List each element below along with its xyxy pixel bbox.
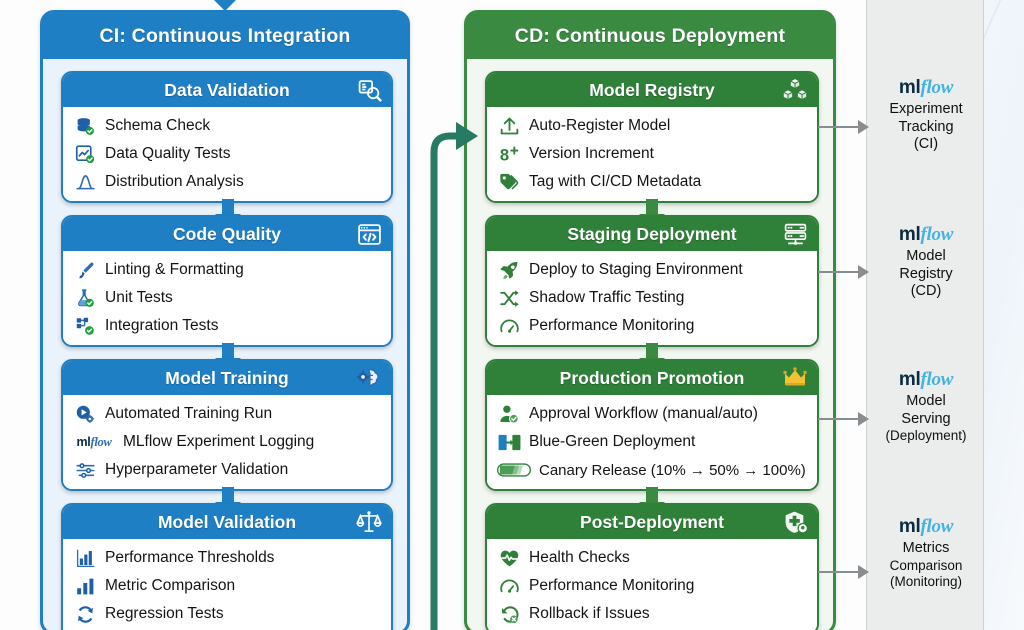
list-item-label: Regression Tests xyxy=(105,605,224,623)
list-item[interactable]: Linting & Formatting xyxy=(73,256,385,284)
card-title: Staging Deployment xyxy=(567,224,736,245)
card-data-validation[interactable]: Data Validation Schema Check xyxy=(61,71,393,203)
list-item-label: Hyperparameter Validation xyxy=(105,461,288,479)
pipeline-entry-arrow xyxy=(212,0,238,12)
list-item[interactable]: Approval Workflow (manual/auto) xyxy=(497,400,811,428)
card-title: Data Validation xyxy=(164,80,289,101)
mlflow-logo: mlflow xyxy=(867,370,985,391)
cd-to-mlflow-arrow xyxy=(818,565,870,579)
heart-pulse-icon xyxy=(497,547,521,569)
list-item-label: Performance Monitoring xyxy=(529,577,694,595)
tags-icon xyxy=(497,171,521,193)
distribution-curve-icon xyxy=(73,171,97,193)
card-header: Data Validation xyxy=(63,73,391,107)
mlflow-item-experiment-tracking[interactable]: mlflow Experiment Tracking (CI) xyxy=(867,78,985,154)
data-scan-icon xyxy=(356,77,382,103)
mlflow-logo: mlflow xyxy=(867,225,985,246)
card-header: Staging Deployment xyxy=(487,217,817,251)
version-plus-icon: 8 xyxy=(497,143,521,165)
card-post-deployment[interactable]: Post-Deployment Healt xyxy=(485,503,819,630)
ci-panel: CI: Continuous Integration Data Validati… xyxy=(40,10,410,630)
bar-chart-axis-icon xyxy=(73,547,97,569)
list-item[interactable]: Automated Training Run xyxy=(73,400,385,428)
list-item[interactable]: Data Quality Tests xyxy=(73,140,385,168)
card-body: Approval Workflow (manual/auto) Blue-Gre… xyxy=(487,395,817,489)
list-item[interactable]: Performance Thresholds xyxy=(73,544,385,572)
list-item[interactable]: Performance Monitoring xyxy=(497,572,811,600)
cd-to-mlflow-arrow xyxy=(818,120,870,134)
shield-health-icon xyxy=(782,509,808,535)
progress-bar-icon xyxy=(497,459,531,481)
svg-text:8: 8 xyxy=(499,145,508,164)
list-item-label: Approval Workflow (manual/auto) xyxy=(529,405,758,423)
list-item[interactable]: Rollback if Issues xyxy=(497,600,811,628)
mlflow-label-line3: (Deployment) xyxy=(867,428,985,444)
cd-to-mlflow-arrow xyxy=(818,265,870,279)
pipeline-diagram: CI: Continuous Integration Data Validati… xyxy=(0,0,1024,630)
list-item-label: Automated Training Run xyxy=(105,405,272,423)
list-item-label: Performance Thresholds xyxy=(105,549,274,567)
list-item[interactable]: 8 Version Increment xyxy=(497,140,811,168)
mlflow-item-metrics-comparison[interactable]: mlflow Metrics Comparison (Monitoring) xyxy=(867,517,985,591)
card-body: Performance Thresholds Metric Comparison xyxy=(63,539,391,630)
list-item-label: Metric Comparison xyxy=(105,577,235,595)
mlflow-integration-strip: mlflow Experiment Tracking (CI) mlflow M… xyxy=(866,0,984,630)
brain-gear-icon xyxy=(356,365,382,391)
server-icon xyxy=(782,221,808,247)
list-item[interactable]: Regression Tests xyxy=(73,600,385,628)
list-item-label: Data Quality Tests xyxy=(105,145,231,163)
list-item[interactable]: Integration Tests xyxy=(73,312,385,340)
list-item-label: Integration Tests xyxy=(105,317,218,335)
list-item[interactable]: Blue-Green Deployment xyxy=(497,428,811,456)
refresh-cycle-icon xyxy=(73,603,97,625)
list-item[interactable]: Metric Comparison xyxy=(73,572,385,600)
mlflow-label-line1: Experiment xyxy=(867,101,985,119)
list-item-label: Shadow Traffic Testing xyxy=(529,289,684,307)
list-item-label: Tag with CI/CD Metadata xyxy=(529,173,701,191)
card-model-training[interactable]: Model Training xyxy=(61,359,393,491)
code-window-icon xyxy=(356,221,382,247)
card-model-validation[interactable]: Model Validation Perf xyxy=(61,503,393,630)
brush-icon xyxy=(73,259,97,281)
rollback-icon xyxy=(497,603,521,625)
cd-panel-title: CD: Continuous Deployment xyxy=(467,13,833,59)
list-item-label: Linting & Formatting xyxy=(105,261,244,279)
card-staging-deployment[interactable]: Staging Deployment xyxy=(485,215,819,347)
chart-check-icon xyxy=(73,143,97,165)
integration-nodes-icon xyxy=(73,315,97,337)
list-item[interactable]: Tag with CI/CD Metadata xyxy=(497,168,811,196)
mlflow-item-model-serving[interactable]: mlflow Model Serving (Deployment) xyxy=(867,370,985,445)
list-item-label: Deploy to Staging Environment xyxy=(529,261,743,279)
card-header: Code Quality xyxy=(63,217,391,251)
database-check-icon xyxy=(73,115,97,137)
gauge-icon xyxy=(497,315,521,337)
list-item[interactable]: Canary Release (10% → 50% → 100%) xyxy=(497,456,811,484)
list-item-label: Schema Check xyxy=(105,117,210,135)
card-body: Automated Training Run mlflow MLflow Exp… xyxy=(63,395,391,489)
card-header: Model Validation xyxy=(63,505,391,539)
scales-icon xyxy=(356,509,382,535)
card-title: Production Promotion xyxy=(560,368,745,389)
card-header: Post-Deployment xyxy=(487,505,817,539)
card-header: Model Training xyxy=(63,361,391,395)
upload-icon xyxy=(497,115,521,137)
card-header: Model Registry xyxy=(487,73,817,107)
mlflow-logo: mlflow xyxy=(867,517,985,538)
list-item-label: Distribution Analysis xyxy=(105,173,244,191)
mlflow-label-line3: (Monitoring) xyxy=(867,574,985,590)
mlflow-logo: mlflow xyxy=(867,78,985,99)
card-body: Schema Check Data Quality Tests xyxy=(63,107,391,201)
list-item-label: Version Increment xyxy=(529,145,654,163)
list-item-label: Health Checks xyxy=(529,549,630,567)
mlflow-label-line2: Comparison xyxy=(867,558,985,574)
play-gear-icon xyxy=(73,403,97,425)
mlflow-label-line1: Model xyxy=(867,248,985,266)
card-title: Post-Deployment xyxy=(580,512,724,533)
card-body: Deploy to Staging Environment Shadow Tra… xyxy=(487,251,817,345)
list-item[interactable]: Shadow Traffic Testing xyxy=(497,284,811,312)
card-header: Production Promotion xyxy=(487,361,817,395)
list-item-label: Rollback if Issues xyxy=(529,605,650,623)
list-item[interactable]: Deploy to Staging Environment xyxy=(497,256,811,284)
boxes-icon xyxy=(782,77,808,103)
card-title: Code Quality xyxy=(173,224,281,245)
list-item[interactable]: Schema Check xyxy=(73,112,385,140)
gauge-icon xyxy=(497,575,521,597)
blue-green-icon xyxy=(497,431,521,453)
list-item-label: Performance Monitoring xyxy=(529,317,694,335)
list-item-label: Auto-Register Model xyxy=(529,117,670,135)
sliders-icon xyxy=(73,459,97,481)
card-body: Auto-Register Model 8 Version Increment xyxy=(487,107,817,201)
mlflow-label-line3: (CD) xyxy=(867,283,985,301)
mlflow-label-line2: Registry xyxy=(867,266,985,284)
list-item[interactable]: Health Checks xyxy=(497,544,811,572)
user-check-icon xyxy=(497,403,521,425)
list-item-label: Canary Release (10% → 50% → 100%) xyxy=(539,462,806,479)
card-title: Model Validation xyxy=(158,512,296,533)
mlflow-label-line1: Metrics xyxy=(867,540,985,558)
card-model-registry[interactable]: Model Registry Auto-Register Model xyxy=(485,71,819,203)
list-item[interactable]: Performance Monitoring xyxy=(497,312,811,340)
cd-to-mlflow-arrow xyxy=(818,412,870,426)
list-item[interactable]: Auto-Register Model xyxy=(497,112,811,140)
list-item-label: Unit Tests xyxy=(105,289,173,307)
bar-chart-icon xyxy=(73,575,97,597)
flask-check-icon xyxy=(73,287,97,309)
card-code-quality[interactable]: Code Quality Linting xyxy=(61,215,393,347)
list-item[interactable]: Unit Tests xyxy=(73,284,385,312)
rocket-icon xyxy=(497,259,521,281)
card-body: Linting & Formatting Unit Tests xyxy=(63,251,391,345)
mlflow-item-model-registry[interactable]: mlflow Model Registry (CD) xyxy=(867,225,985,301)
shuffle-icon xyxy=(497,287,521,309)
mlflow-label-line2: Tracking xyxy=(867,119,985,137)
mlflow-label-line3: (CI) xyxy=(867,136,985,154)
card-body: Health Checks Performance Monitoring xyxy=(487,539,817,630)
ci-panel-title: CI: Continuous Integration xyxy=(43,13,407,59)
list-item[interactable]: Hyperparameter Validation xyxy=(73,456,385,484)
mlflow-label-line1: Model xyxy=(867,393,985,411)
card-title: Model Training xyxy=(165,368,288,389)
list-item-label: MLflow Experiment Logging xyxy=(123,433,314,451)
mlflow-label-line2: Serving xyxy=(867,411,985,429)
crown-icon xyxy=(782,365,808,391)
card-production-promotion[interactable]: Production Promotion xyxy=(485,359,819,491)
cd-panel: CD: Continuous Deployment Model Registry xyxy=(464,10,836,630)
list-item-label: Blue-Green Deployment xyxy=(529,433,695,451)
mlflow-logo-icon: mlflow xyxy=(73,431,115,453)
ci-to-cd-connector xyxy=(398,100,478,630)
list-item[interactable]: mlflow MLflow Experiment Logging xyxy=(73,428,385,456)
card-title: Model Registry xyxy=(589,80,714,101)
list-item[interactable]: Distribution Analysis xyxy=(73,168,385,196)
